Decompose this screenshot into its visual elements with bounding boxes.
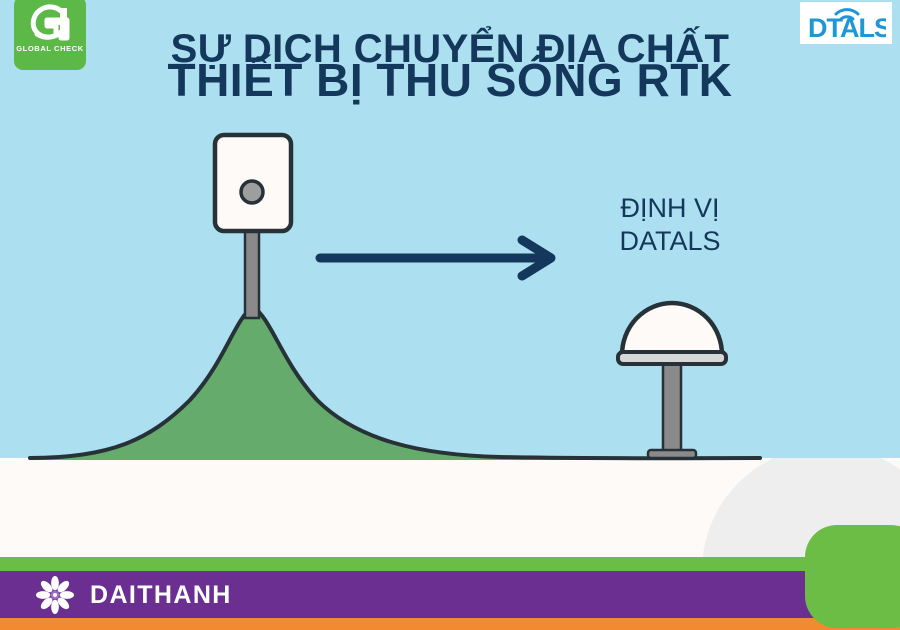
datals-label-line2: DATALS	[570, 225, 770, 258]
daithanh-wordmark: DAITHANH	[90, 581, 232, 610]
datals-dome-antenna	[618, 303, 726, 364]
datals-label: ĐỊNH VỊ DATALS	[570, 192, 770, 258]
rtk-sensor-dot	[241, 181, 263, 203]
band-caption: SỰ DỊCH CHUYỂN ĐỊA CHẤT	[0, 27, 900, 72]
daithanh-logo[interactable]: DAITHANH	[36, 574, 232, 616]
infographic-canvas: GLOBAL CHECK DTALS THIẾT BỊ THU SÓNG RTK…	[0, 0, 900, 630]
datals-dome-pole	[648, 360, 696, 458]
rtk-receiver-pole	[245, 228, 259, 318]
datals-label-line1: ĐỊNH VỊ	[570, 192, 770, 225]
flower-icon	[36, 576, 74, 614]
signal-direction-arrow	[320, 240, 551, 276]
rtk-receiver-panel	[215, 135, 291, 231]
